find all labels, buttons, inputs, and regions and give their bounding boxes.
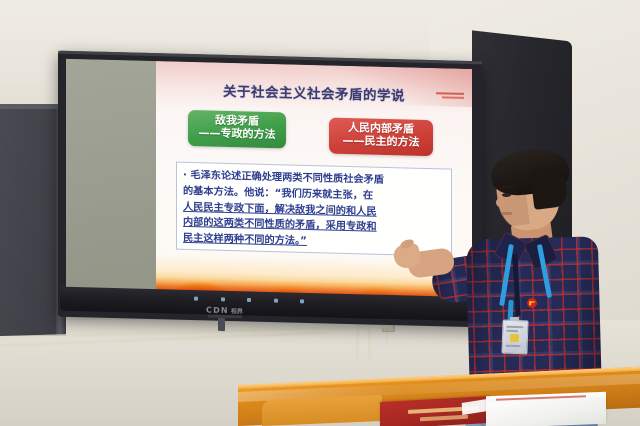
- presenter-eye: [502, 193, 511, 197]
- badge-text-line-1: [506, 326, 523, 329]
- id-badge: [501, 320, 528, 355]
- power-icon[interactable]: [194, 297, 198, 301]
- party-emblem-pin: [526, 298, 538, 308]
- left-wall-board-top-highlight: [0, 104, 66, 109]
- badge-photo: [510, 334, 519, 342]
- source-icon[interactable]: [300, 299, 304, 303]
- menu-icon[interactable]: [274, 299, 278, 303]
- slide-pill-enemy-contradiction: 敌我矛盾 ——专政的方法: [188, 110, 286, 148]
- wall-cable-loop: [0, 330, 62, 360]
- classroom-scene: 关于社会主义社会矛盾的学说 敌我矛盾 ——专政的方法 人民内部矛盾 ——民主的方…: [0, 0, 640, 426]
- pill-red-line2: ——民主的方法: [335, 135, 427, 150]
- slide-body-bullet: ·: [183, 170, 187, 181]
- screen-idle-band: [66, 59, 158, 293]
- slide-body-line-1-text: 毛泽东论述正确处理两类不同性质社会矛盾: [190, 170, 384, 186]
- badge-text-line-3: [506, 345, 521, 348]
- display-cable-plug: [218, 318, 225, 331]
- pill-green-line1: 敌我矛盾: [215, 114, 259, 128]
- presenter-nose: [496, 198, 504, 207]
- pill-green-line2: ——专政的方法: [194, 127, 280, 142]
- desk-side-panel: [262, 395, 382, 426]
- home-icon[interactable]: [247, 298, 251, 302]
- badge-text-line-2: [506, 330, 518, 332]
- presenter-mouth: [501, 212, 512, 215]
- back-icon[interactable]: [221, 297, 225, 301]
